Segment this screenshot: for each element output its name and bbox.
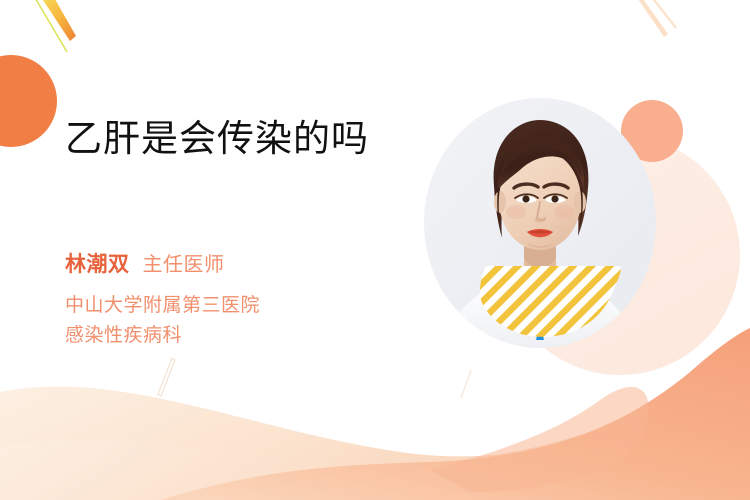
doctor-professional-title: 主任医师 (143, 248, 225, 277)
doctor-portrait (424, 98, 656, 348)
accent-stroke-lime-icon (34, 0, 67, 52)
doctor-portrait-image (424, 98, 656, 348)
accent-stroke-orange-icon (39, 0, 76, 41)
doctor-department: 感染性疾病科 (65, 320, 260, 347)
accent-hairline-strokes-icon (158, 358, 471, 398)
wave-light-decoration (0, 372, 750, 500)
accent-stroke-pale-top-right-icon (636, 0, 676, 37)
doctor-name-row: 林潮双 主任医师 (65, 248, 260, 278)
page-title: 乙肝是会传染的吗 (65, 117, 369, 161)
doctor-info-block: 林潮双 主任医师 中山大学附属第三医院 感染性疾病科 (65, 248, 260, 347)
doctor-name: 林潮双 (65, 248, 130, 278)
wave-strong-decoration (160, 328, 750, 500)
wave-mid-decoration (0, 352, 750, 500)
orange-circle-decoration (0, 55, 57, 147)
wave-blob-highlight-decoration (430, 387, 649, 492)
doctor-hospital: 中山大学附属第三医院 (65, 290, 260, 317)
video-cover-card: 乙肝是会传染的吗 林潮双 主任医师 中山大学附属第三医院 感染性疾病科 (0, 0, 750, 500)
